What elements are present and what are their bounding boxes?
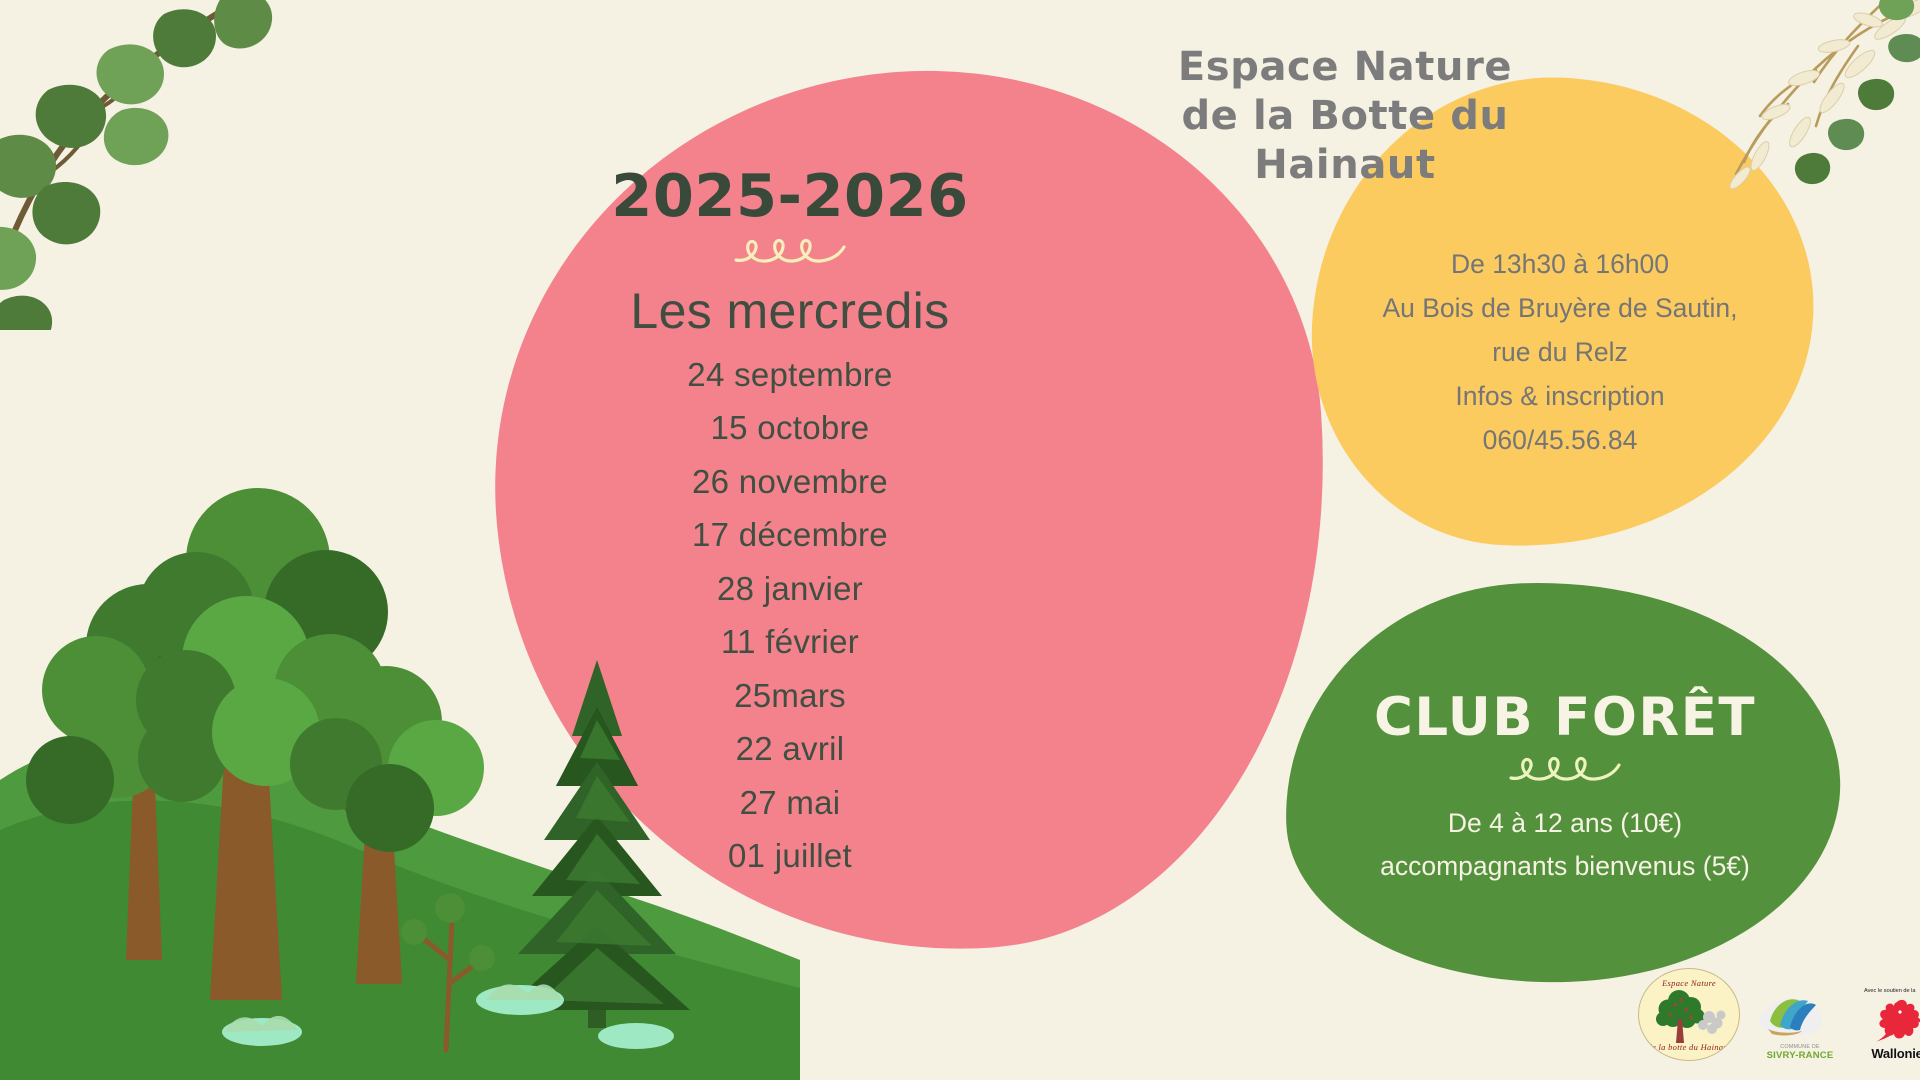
page-title: Espace Nature de la Botte du Hainaut — [1130, 43, 1560, 189]
list-item: 24 septembre — [530, 348, 1050, 402]
sivry-rance-logo: COMMUNE DE SIVRY-RANCE — [1754, 987, 1846, 1061]
rooster-icon — [1867, 996, 1920, 1046]
squiggle-divider-icon — [1505, 754, 1625, 788]
season-year: 2025-2026 — [530, 165, 1050, 227]
sivry-rance-name: SIVRY-RANCE — [1754, 1050, 1846, 1061]
club-title: CLUB FORÊT — [1285, 690, 1845, 746]
list-item: 27 mai — [530, 776, 1050, 830]
green-line-ages: De 4 à 12 ans (10€) — [1285, 802, 1845, 845]
ivy-icon — [0, 0, 288, 330]
espace-nature-logo: Espace Nature de la botte du Hainaut — [1638, 968, 1740, 1061]
wallonie-name: Wallonie — [1860, 1046, 1920, 1061]
yellow-line-phone[interactable]: 060/45.56.84 — [1320, 418, 1800, 462]
squiggle-divider-icon — [730, 236, 850, 270]
brand-line-3: Hainaut — [1130, 141, 1560, 190]
list-item: 26 novembre — [530, 455, 1050, 509]
pink-card-subtitle: Les mercredis — [530, 282, 1050, 340]
list-item: 01 juillet — [530, 829, 1050, 883]
yellow-line-info: Infos & inscription — [1320, 374, 1800, 418]
pink-card: 2025-2026 Les mercredis 24 septembre 15 … — [530, 165, 1050, 883]
yellow-line-address-2: rue du Relz — [1320, 330, 1800, 374]
list-item: 17 décembre — [530, 508, 1050, 562]
espace-nature-logo-bottom-text: de la botte du Hainaut — [1639, 1042, 1739, 1052]
list-item: 25mars — [530, 669, 1050, 723]
green-card: CLUB FORÊT De 4 à 12 ans (10€) accompagn… — [1285, 690, 1845, 888]
yellow-card: De 13h30 à 16h00 Au Bois de Bruyère de S… — [1320, 242, 1800, 462]
dates-list: 24 septembre 15 octobre 26 novembre 17 d… — [530, 348, 1050, 883]
logo-row: Espace Nature de la botte du Hainaut — [1638, 968, 1920, 1061]
yellow-line-address-1: Au Bois de Bruyère de Sautin, — [1320, 286, 1800, 330]
wallonie-support-text: Avec le soutien de la — [1860, 988, 1920, 995]
flowering-branch-icon — [1628, 0, 1920, 226]
poster-canvas: 2025-2026 Les mercredis 24 septembre 15 … — [0, 0, 1920, 1080]
list-item: 28 janvier — [530, 562, 1050, 616]
list-item: 22 avril — [530, 722, 1050, 776]
green-line-accompanying: accompagnants bienvenus (5€) — [1285, 845, 1845, 888]
yellow-line-schedule: De 13h30 à 16h00 — [1320, 242, 1800, 286]
sivry-rance-mark-icon — [1754, 987, 1846, 1039]
brand-line-2: de la Botte du — [1130, 92, 1560, 141]
wallonie-logo: Avec le soutien de la Wallonie — [1860, 988, 1920, 1061]
list-item: 15 octobre — [530, 401, 1050, 455]
list-item: 11 février — [530, 615, 1050, 669]
brand-line-1: Espace Nature — [1130, 43, 1560, 92]
